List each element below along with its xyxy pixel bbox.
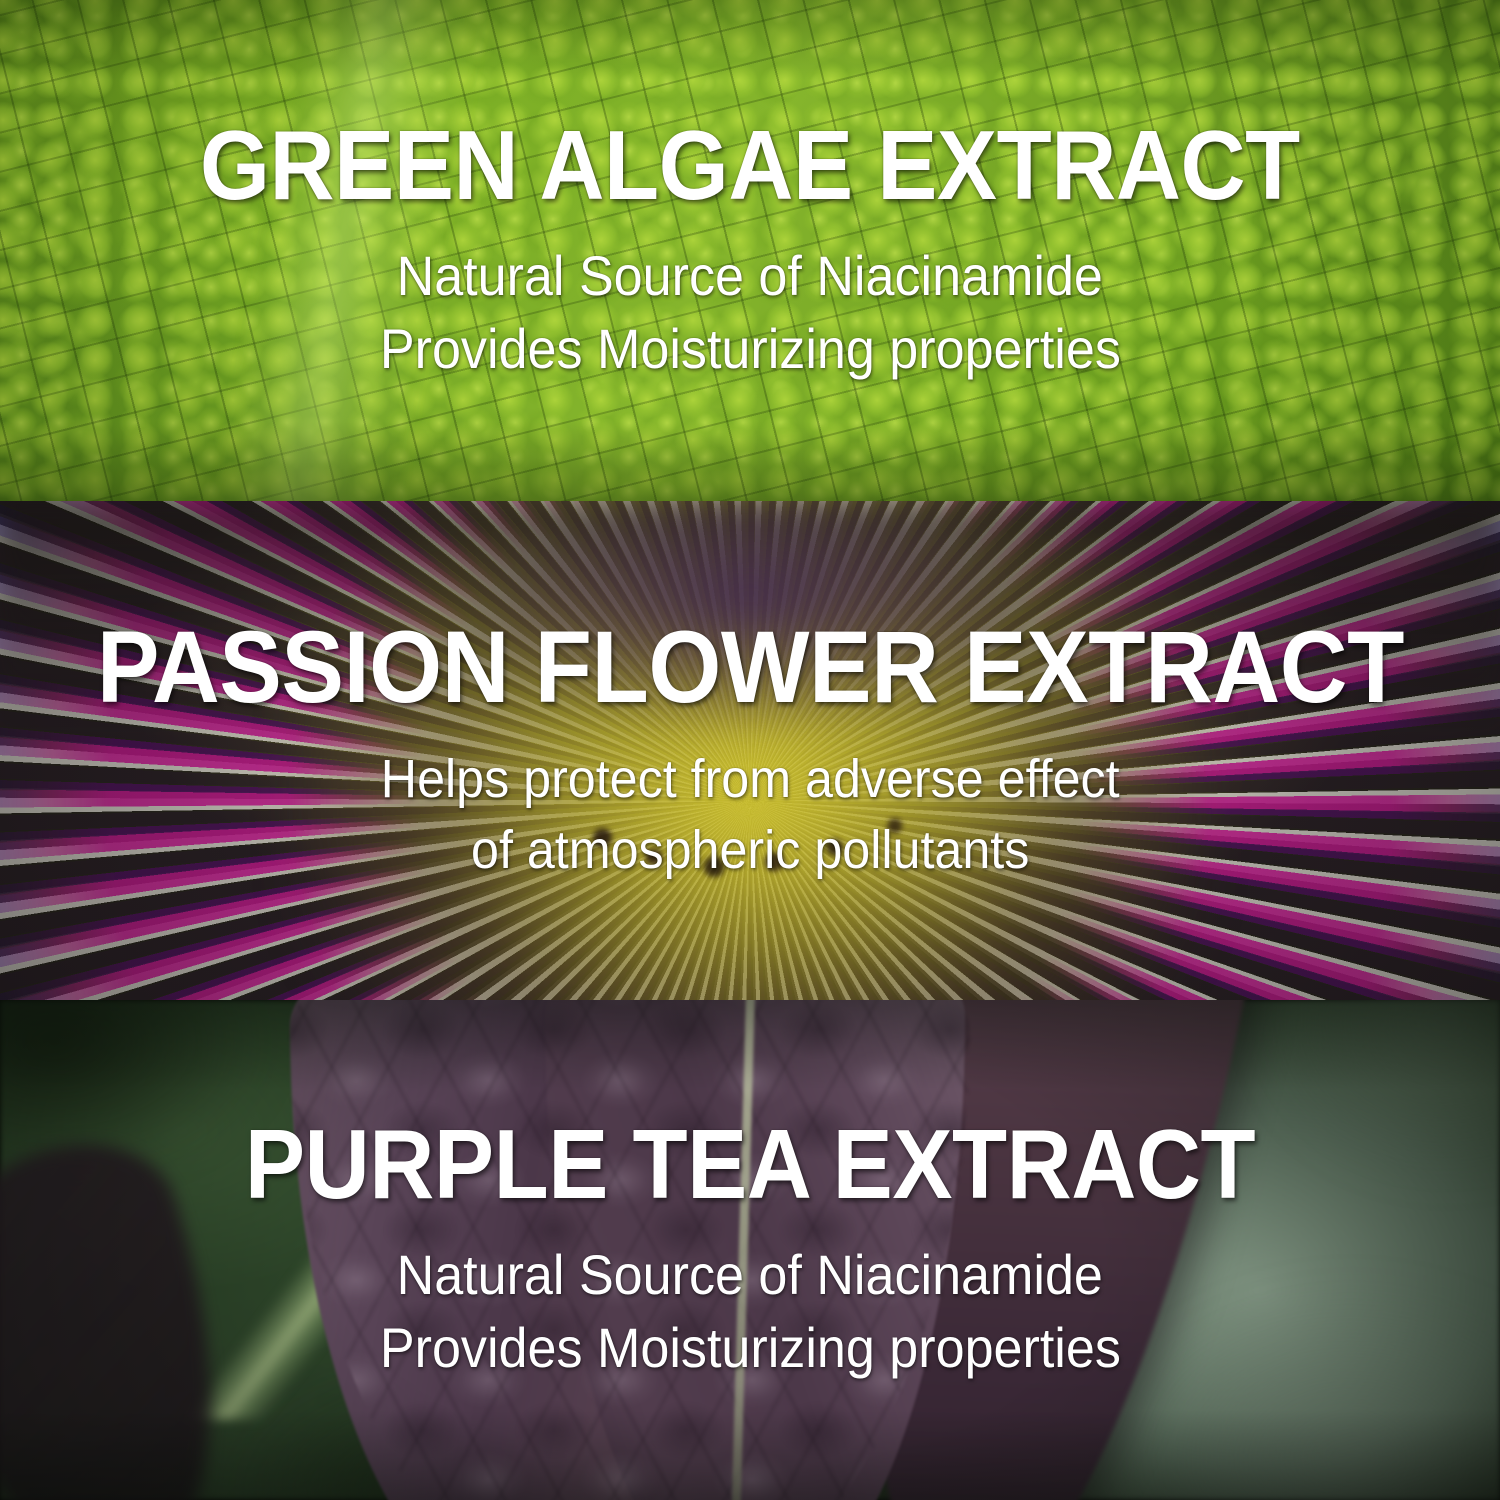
purple-tea-benefit-line-1: Natural Source of Niacinamide [397, 1239, 1103, 1312]
passion-flower-benefit-line-2: of atmospheric pollutants [471, 815, 1029, 885]
green-algae-benefit-line-1: Natural Source of Niacinamide [397, 240, 1103, 313]
passion-flower-heading: PASSION FLOWER EXTRACT [96, 616, 1403, 718]
passion-flower-benefit-line-1: Helps protect from adverse effect [381, 744, 1120, 814]
panel-purple-tea: PURPLE TEA EXTRACT Natural Source of Nia… [0, 1000, 1500, 1500]
ingredient-benefits-poster: GREEN ALGAE EXTRACT Natural Source of Ni… [0, 0, 1500, 1500]
green-algae-text-block: GREEN ALGAE EXTRACT Natural Source of Ni… [0, 0, 1500, 501]
green-algae-benefit-line-2: Provides Moisturizing properties [379, 313, 1120, 386]
purple-tea-heading: PURPLE TEA EXTRACT [245, 1115, 1255, 1213]
panel-green-algae: GREEN ALGAE EXTRACT Natural Source of Ni… [0, 0, 1500, 501]
green-algae-heading: GREEN ALGAE EXTRACT [200, 116, 1300, 214]
purple-tea-benefit-line-2: Provides Moisturizing properties [379, 1312, 1120, 1385]
panel-passion-flower: PASSION FLOWER EXTRACT Helps protect fro… [0, 501, 1500, 1000]
purple-tea-text-block: PURPLE TEA EXTRACT Natural Source of Nia… [0, 1000, 1500, 1500]
passion-flower-text-block: PASSION FLOWER EXTRACT Helps protect fro… [0, 501, 1500, 1000]
